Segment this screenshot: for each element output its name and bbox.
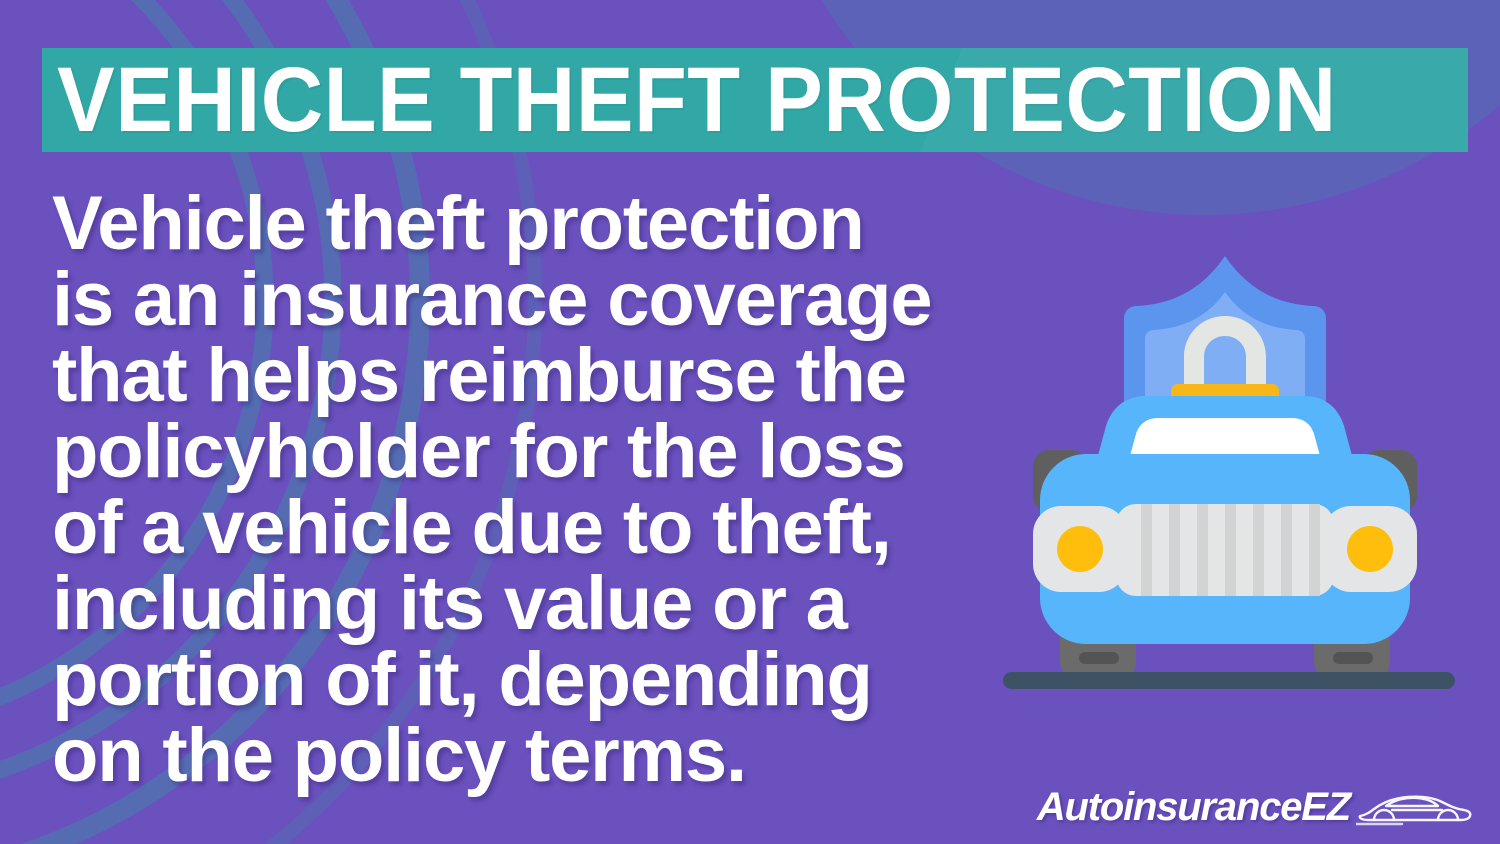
car-headlight-left [1033, 506, 1127, 592]
body-line: is an insurance coverage [52, 262, 1042, 338]
infographic-canvas: VEHICLE THEFT PROTECTION Vehicle theft p… [0, 0, 1500, 844]
body-line: portion of it, depending [52, 642, 1042, 718]
car-headlight-right [1323, 506, 1417, 592]
brand-logo[interactable]: AutoinsuranceEZ [1037, 784, 1474, 830]
body-line: policyholder for the loss [52, 414, 1042, 490]
body-line: Vehicle theft protection [52, 186, 1042, 262]
body-line: of a vehicle due to theft, [52, 490, 1042, 566]
brand-wordmark: AutoinsuranceEZ [1037, 787, 1350, 827]
ground-line [1003, 672, 1455, 689]
sports-car-outline-icon [1356, 784, 1474, 830]
body-line: on the policy terms. [52, 718, 1042, 794]
body-line: including its value or a [52, 566, 1042, 642]
car-front-icon [1033, 396, 1417, 678]
car-grille [1116, 504, 1334, 596]
body-paragraph: Vehicle theft protection is an insurance… [52, 186, 1042, 794]
vehicle-theft-illustration [985, 248, 1465, 698]
header-banner: VEHICLE THEFT PROTECTION [42, 48, 1468, 152]
page-title: VEHICLE THEFT PROTECTION [42, 54, 1337, 146]
body-line: that helps reimburse the [52, 338, 1042, 414]
